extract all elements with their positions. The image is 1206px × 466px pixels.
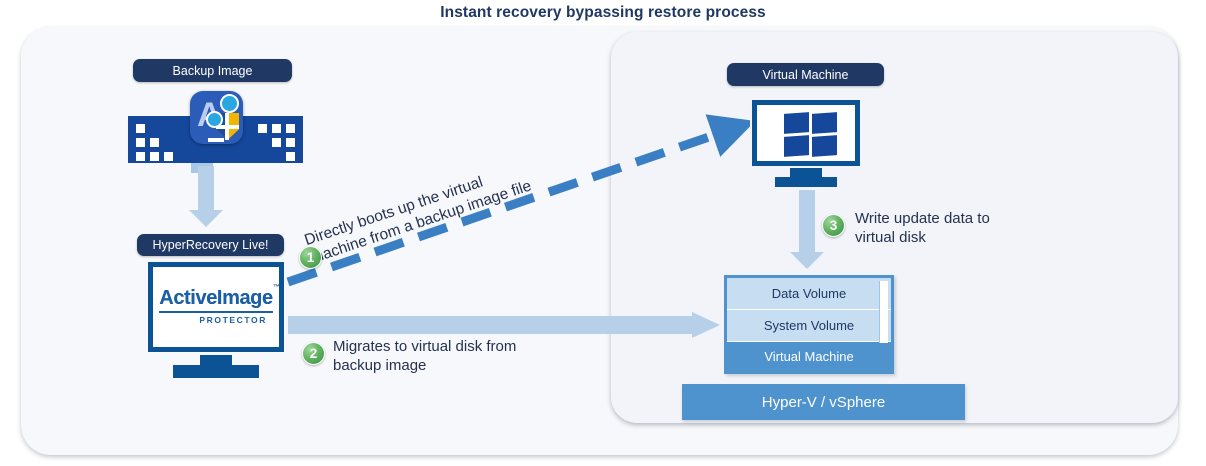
migrate-to-virtual-disk-arrow (288, 312, 720, 338)
hypervisor-bar: Hyper-V / vSphere (682, 384, 965, 420)
server-led (258, 124, 267, 133)
server-led-group-left (136, 124, 173, 161)
shield-cross-vertical (225, 113, 229, 140)
step-3-caption: Write update data to virtual disk (855, 209, 990, 247)
trademark-symbol: ™ (273, 284, 280, 291)
diagram-canvas: Instant recovery bypassing restore proce… (0, 0, 1206, 466)
activeimage-protector-logo: ActiveImage™ PROTECTOR (153, 287, 279, 325)
volume-row-system: System Volume (727, 310, 891, 342)
step-2-line-2: backup image (333, 356, 516, 375)
logo-subtitle: PROTECTOR (153, 315, 279, 325)
step-marker-1: 1 (299, 246, 322, 269)
step-2-line-1: Migrates to virtual disk from (333, 337, 516, 356)
activeimage-monitor: ActiveImage™ PROTECTOR (148, 262, 284, 352)
step-marker-3: 3 (822, 214, 845, 237)
step-2-caption: Migrates to virtual disk from backup ima… (333, 337, 516, 375)
server-led (136, 138, 145, 147)
blue-dot-icon (220, 94, 239, 113)
virtual-disk-volume-stack: Data Volume System Volume Virtual Machin… (724, 275, 894, 374)
vm-monitor-neck (790, 168, 822, 177)
server-led (136, 152, 145, 161)
blue-dot-icon (206, 111, 223, 128)
virtual-machine-monitor (752, 100, 860, 166)
icon-base-bar (208, 138, 224, 142)
write-update-data-arrow (787, 190, 827, 272)
monitor-neck (200, 355, 232, 365)
hyperrecovery-live-label: HyperRecovery Live! (137, 234, 284, 256)
logo-wordmark: ActiveImage™ (159, 287, 272, 313)
server-led (150, 152, 159, 161)
step-marker-2: 2 (302, 342, 325, 365)
volume-stack-scrollbar (879, 281, 888, 343)
step-3-line-1: Write update data to (855, 209, 990, 228)
logo-name: ActiveImage (159, 287, 272, 309)
activeimage-app-icon: A (190, 91, 243, 144)
vm-monitor-base (775, 177, 837, 187)
server-led (136, 124, 145, 133)
virtual-machine-label: Virtual Machine (727, 63, 884, 86)
server-led (164, 152, 173, 161)
page-title: Instant recovery bypassing restore proce… (0, 4, 1206, 22)
volume-row-virtual-machine: Virtual Machine (727, 342, 891, 371)
monitor-base (173, 365, 259, 378)
volume-row-data: Data Volume (727, 278, 891, 310)
backup-to-recovery-arrow (186, 166, 226, 228)
server-led (150, 138, 159, 147)
backup-image-label: Backup Image (133, 59, 292, 82)
step-3-line-2: virtual disk (855, 228, 990, 247)
windows-logo-icon (784, 113, 836, 155)
